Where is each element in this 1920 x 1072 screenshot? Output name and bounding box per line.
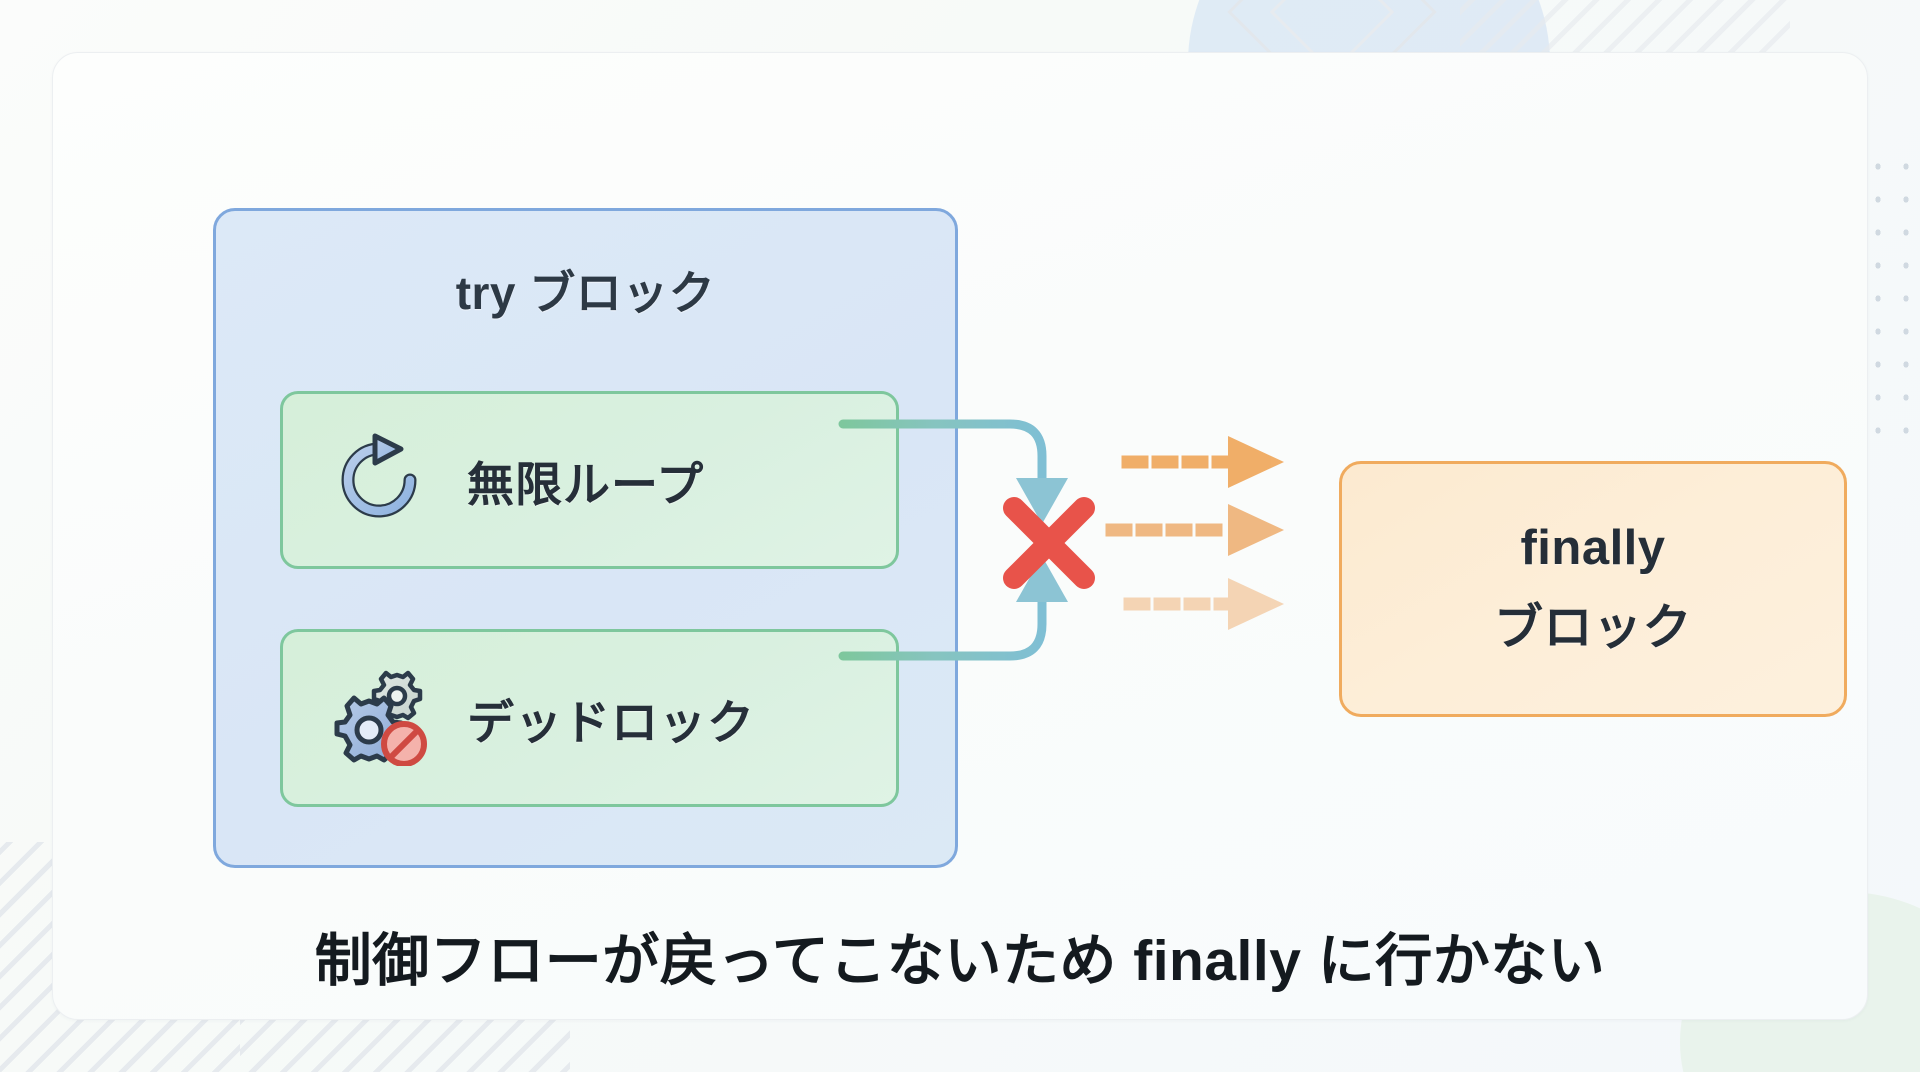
try-block-title: try ブロック xyxy=(216,257,955,323)
diagram-caption: 制御フローが戻ってこないため finally に行かない xyxy=(53,915,1867,997)
loop-arrow-icon xyxy=(331,432,427,528)
try-block-container: try ブロック xyxy=(213,208,958,868)
finally-block-container: finally ブロック xyxy=(1339,461,1847,717)
finally-block-title-line2: ブロック xyxy=(1494,588,1692,659)
diagram-canvas: try ブロック xyxy=(0,0,1920,1072)
finally-block-title-line1: finally xyxy=(1520,520,1665,576)
diagram-card: try ブロック xyxy=(52,52,1868,1020)
issue-label-deadlock: デッドロック xyxy=(467,684,755,753)
background-stripes-bottom-center xyxy=(240,1012,570,1072)
issue-item-deadlock: デッドロック xyxy=(280,629,899,807)
issue-item-infinite-loop: 無限ループ xyxy=(280,391,899,569)
issue-label-infinite-loop: 無限ループ xyxy=(467,446,704,515)
gears-blocked-icon xyxy=(331,670,427,766)
